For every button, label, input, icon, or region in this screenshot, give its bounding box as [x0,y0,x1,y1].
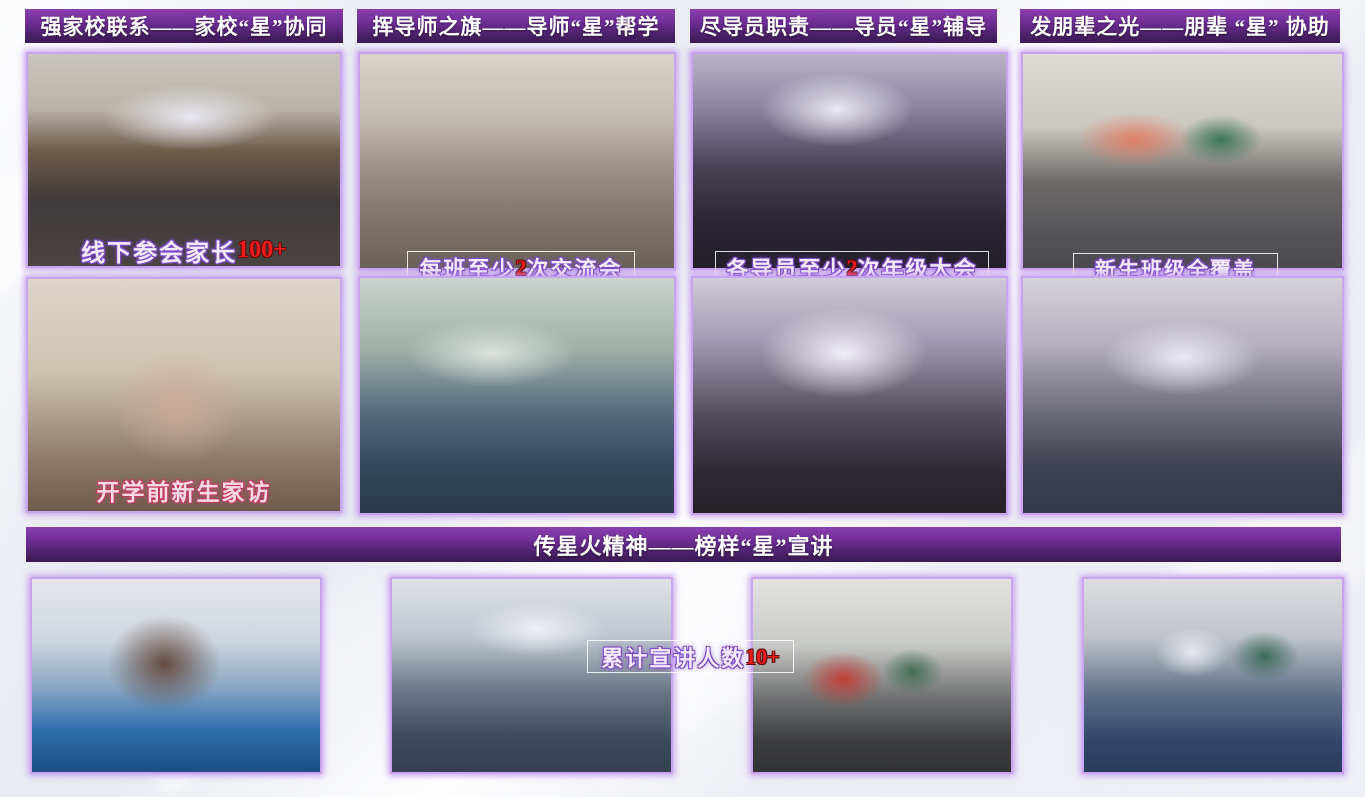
photo-image [1023,278,1342,513]
photo-image [28,279,340,511]
photo-image [360,278,674,513]
photo-image [693,54,1006,268]
banner-role-model-lectures: 传星火精神——榜样“星”宣讲 [26,527,1341,562]
photo-image [28,54,340,266]
photo-classroom-presentation-blackboard[interactable] [1082,577,1344,774]
photo-image [360,54,674,268]
photo-freshman-class-group-photo[interactable] [1021,52,1344,270]
photo-lecture-audience-hall[interactable] [390,577,673,774]
photo-image [1023,54,1342,268]
photo-image [753,579,1011,772]
photo-mentor-classroom-session[interactable] [358,276,676,515]
photo-image [392,579,671,772]
banner-counselor: 尽导员职责——导员“星”辅导 [690,9,997,43]
banner-family-school: 强家校联系——家校“星”协同 [25,9,343,43]
photo-student-speaker-podium[interactable] [30,577,322,774]
photo-exchange-meeting-red-slide[interactable] [751,577,1013,774]
banner-peer: 发朋辈之光——朋辈 “星” 协助 [1020,9,1340,43]
photo-graduate-freshman-orientation[interactable] [691,52,1008,270]
photo-image [32,579,320,772]
photo-mentor-dormitory-group[interactable] [358,52,676,270]
photo-pre-term-home-visit[interactable] [26,277,342,513]
poster-canvas: 强家校联系——家校“星”协同 线下参会家长100+ 开学前新生家访 挥导师之旗—… [0,0,1365,797]
photo-parents-meeting-lecture-hall[interactable] [26,52,342,268]
photo-peer-tutor-class-meeting[interactable] [1021,276,1344,515]
photo-image [693,278,1006,513]
photo-counselor-course-guidance[interactable] [691,276,1008,515]
photo-image [1084,579,1342,772]
banner-mentor: 挥导师之旗——导师“星”帮学 [357,9,675,43]
